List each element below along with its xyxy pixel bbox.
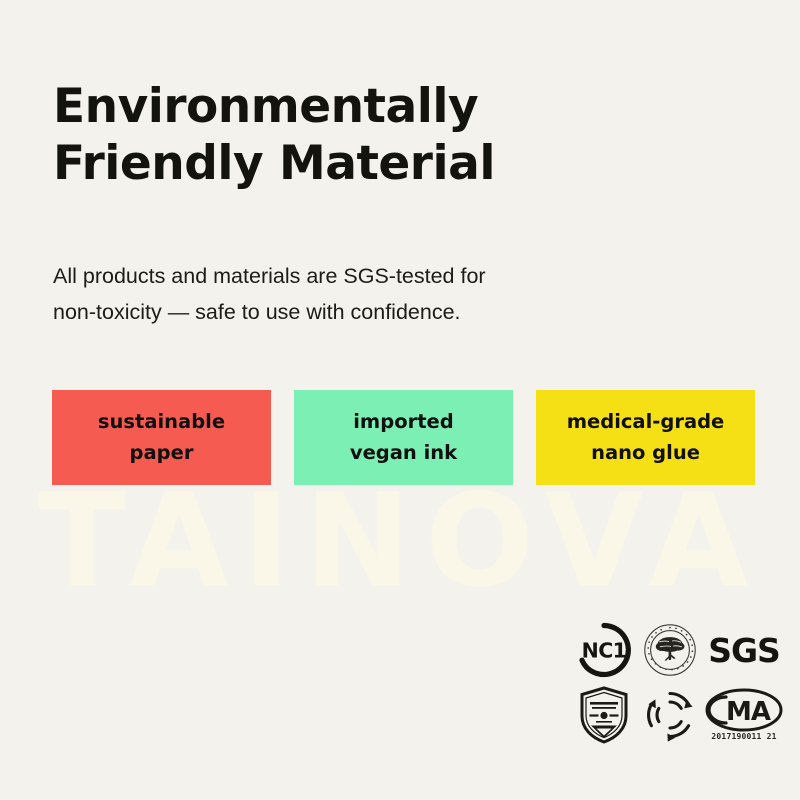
page-subtitle: All products and materials are SGS-teste…: [53, 258, 693, 332]
cma-serial: 2017190011 21: [711, 732, 776, 741]
material-tag-line-1: imported: [353, 407, 453, 437]
sgs-icon: SGS: [704, 618, 784, 682]
poster-canvas: TAINOVA Environmentally Friendly Materia…: [0, 0, 800, 800]
page-subtitle-line-2: non-toxicity — safe to use with confiden…: [53, 294, 693, 331]
tree-seal-icon: [638, 618, 702, 682]
certification-badge-grid: NC1: [572, 618, 784, 748]
material-tag-list: sustainable paper imported vegan ink med…: [52, 390, 755, 485]
material-tag-sustainable-paper: sustainable paper: [52, 390, 271, 485]
recycle-icon: [638, 682, 702, 748]
material-tag-line-1: medical-grade: [567, 407, 725, 437]
svg-text:SGS: SGS: [708, 631, 780, 670]
material-tag-imported-vegan-ink: imported vegan ink: [294, 390, 513, 485]
material-tag-line-2: nano glue: [591, 438, 700, 468]
page-title: Environmentally Friendly Material: [53, 79, 753, 192]
svg-text:NC1: NC1: [582, 639, 627, 663]
material-tag-line-2: vegan ink: [350, 438, 457, 468]
brand-watermark: TAINOVA: [0, 478, 800, 606]
material-tag-medical-grade-nano-glue: medical-grade nano glue: [536, 390, 755, 485]
page-title-line-1: Environmentally: [53, 79, 753, 135]
shield-icon: [572, 682, 636, 748]
material-tag-line-2: paper: [130, 438, 194, 468]
svg-text:MA: MA: [726, 697, 771, 727]
page-subtitle-line-1: All products and materials are SGS-teste…: [53, 258, 693, 295]
nc1-icon: NC1: [572, 618, 636, 682]
cma-icon: MA 2017190011 21: [704, 682, 784, 748]
material-tag-line-1: sustainable: [98, 407, 225, 437]
page-title-line-2: Friendly Material: [53, 136, 753, 192]
